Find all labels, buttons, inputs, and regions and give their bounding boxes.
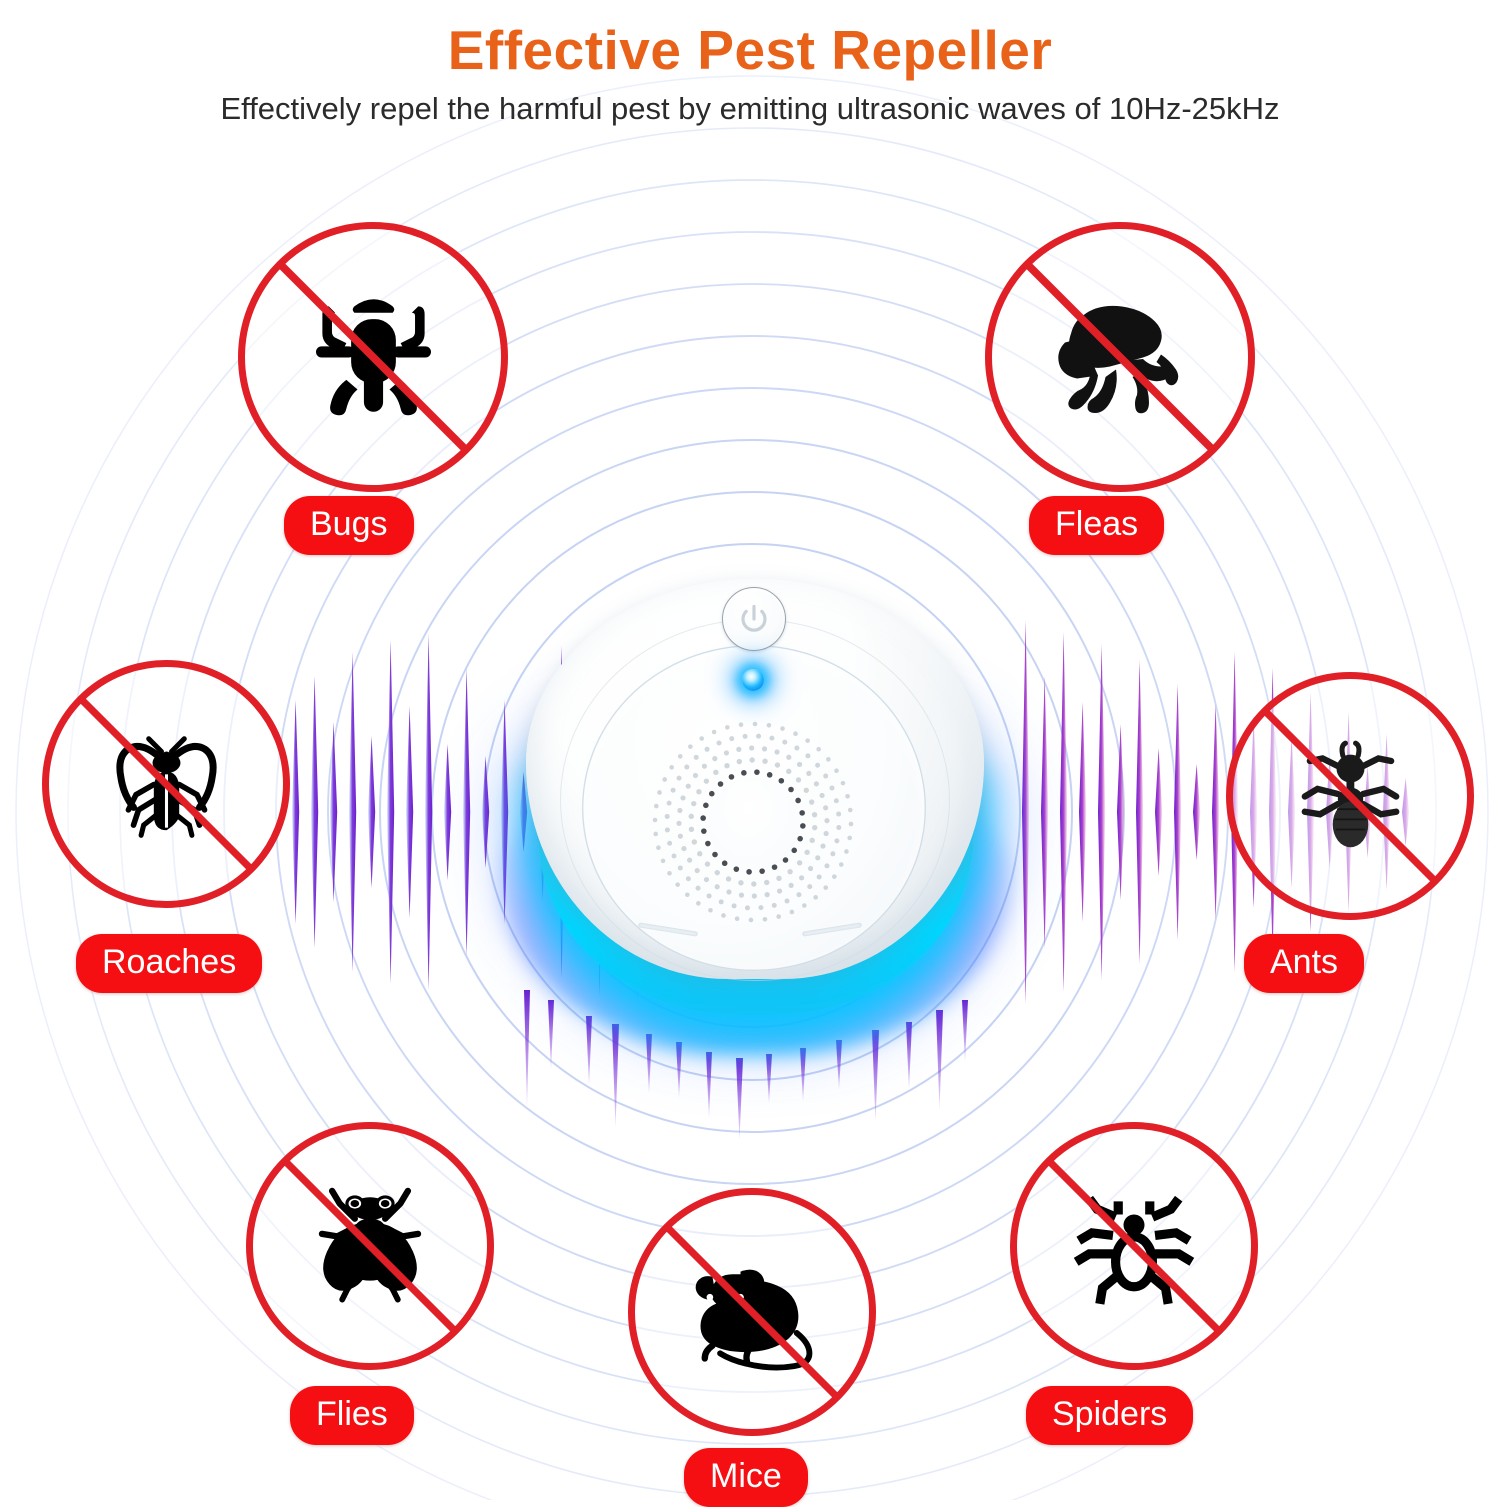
prohibition-slash-icon [246,1122,494,1370]
prohibition-slash-icon [985,222,1255,492]
led-indicator-icon [742,669,764,691]
power-icon [737,602,771,636]
pest-label-mice: Mice [684,1448,808,1507]
prohibition-slash-icon [1226,672,1474,920]
pest-badge-mice [628,1188,876,1436]
prohibition-slash-icon [628,1188,876,1436]
page-subtitle: Effectively repel the harmful pest by em… [0,92,1500,126]
infographic-canvas: Effective Pest Repeller Effectively repe… [0,0,1500,1500]
pest-badge-roaches [42,660,290,908]
prohibition-slash-icon [238,222,508,492]
prohibition-slash-icon [42,660,290,908]
pest-label-ants: Ants [1244,934,1364,993]
power-button[interactable] [722,587,786,651]
pest-badge-bugs [238,222,508,492]
pest-label-bugs: Bugs [284,496,414,555]
prohibition-slash-icon [1010,1122,1258,1370]
pest-badge-flies [246,1122,494,1370]
pest-badge-ants [1226,672,1474,920]
pest-label-roaches: Roaches [76,934,262,993]
pest-badge-spiders [1010,1122,1258,1370]
grille-center [708,777,800,869]
ultrasonic-repeller-device [520,575,990,1045]
header: Effective Pest Repeller Effectively repe… [0,0,1500,126]
page-title: Effective Pest Repeller [0,22,1500,80]
pest-badge-fleas [985,222,1255,492]
pest-label-spiders: Spiders [1026,1386,1193,1445]
pest-label-fleas: Fleas [1029,496,1164,555]
pest-label-flies: Flies [290,1386,414,1445]
